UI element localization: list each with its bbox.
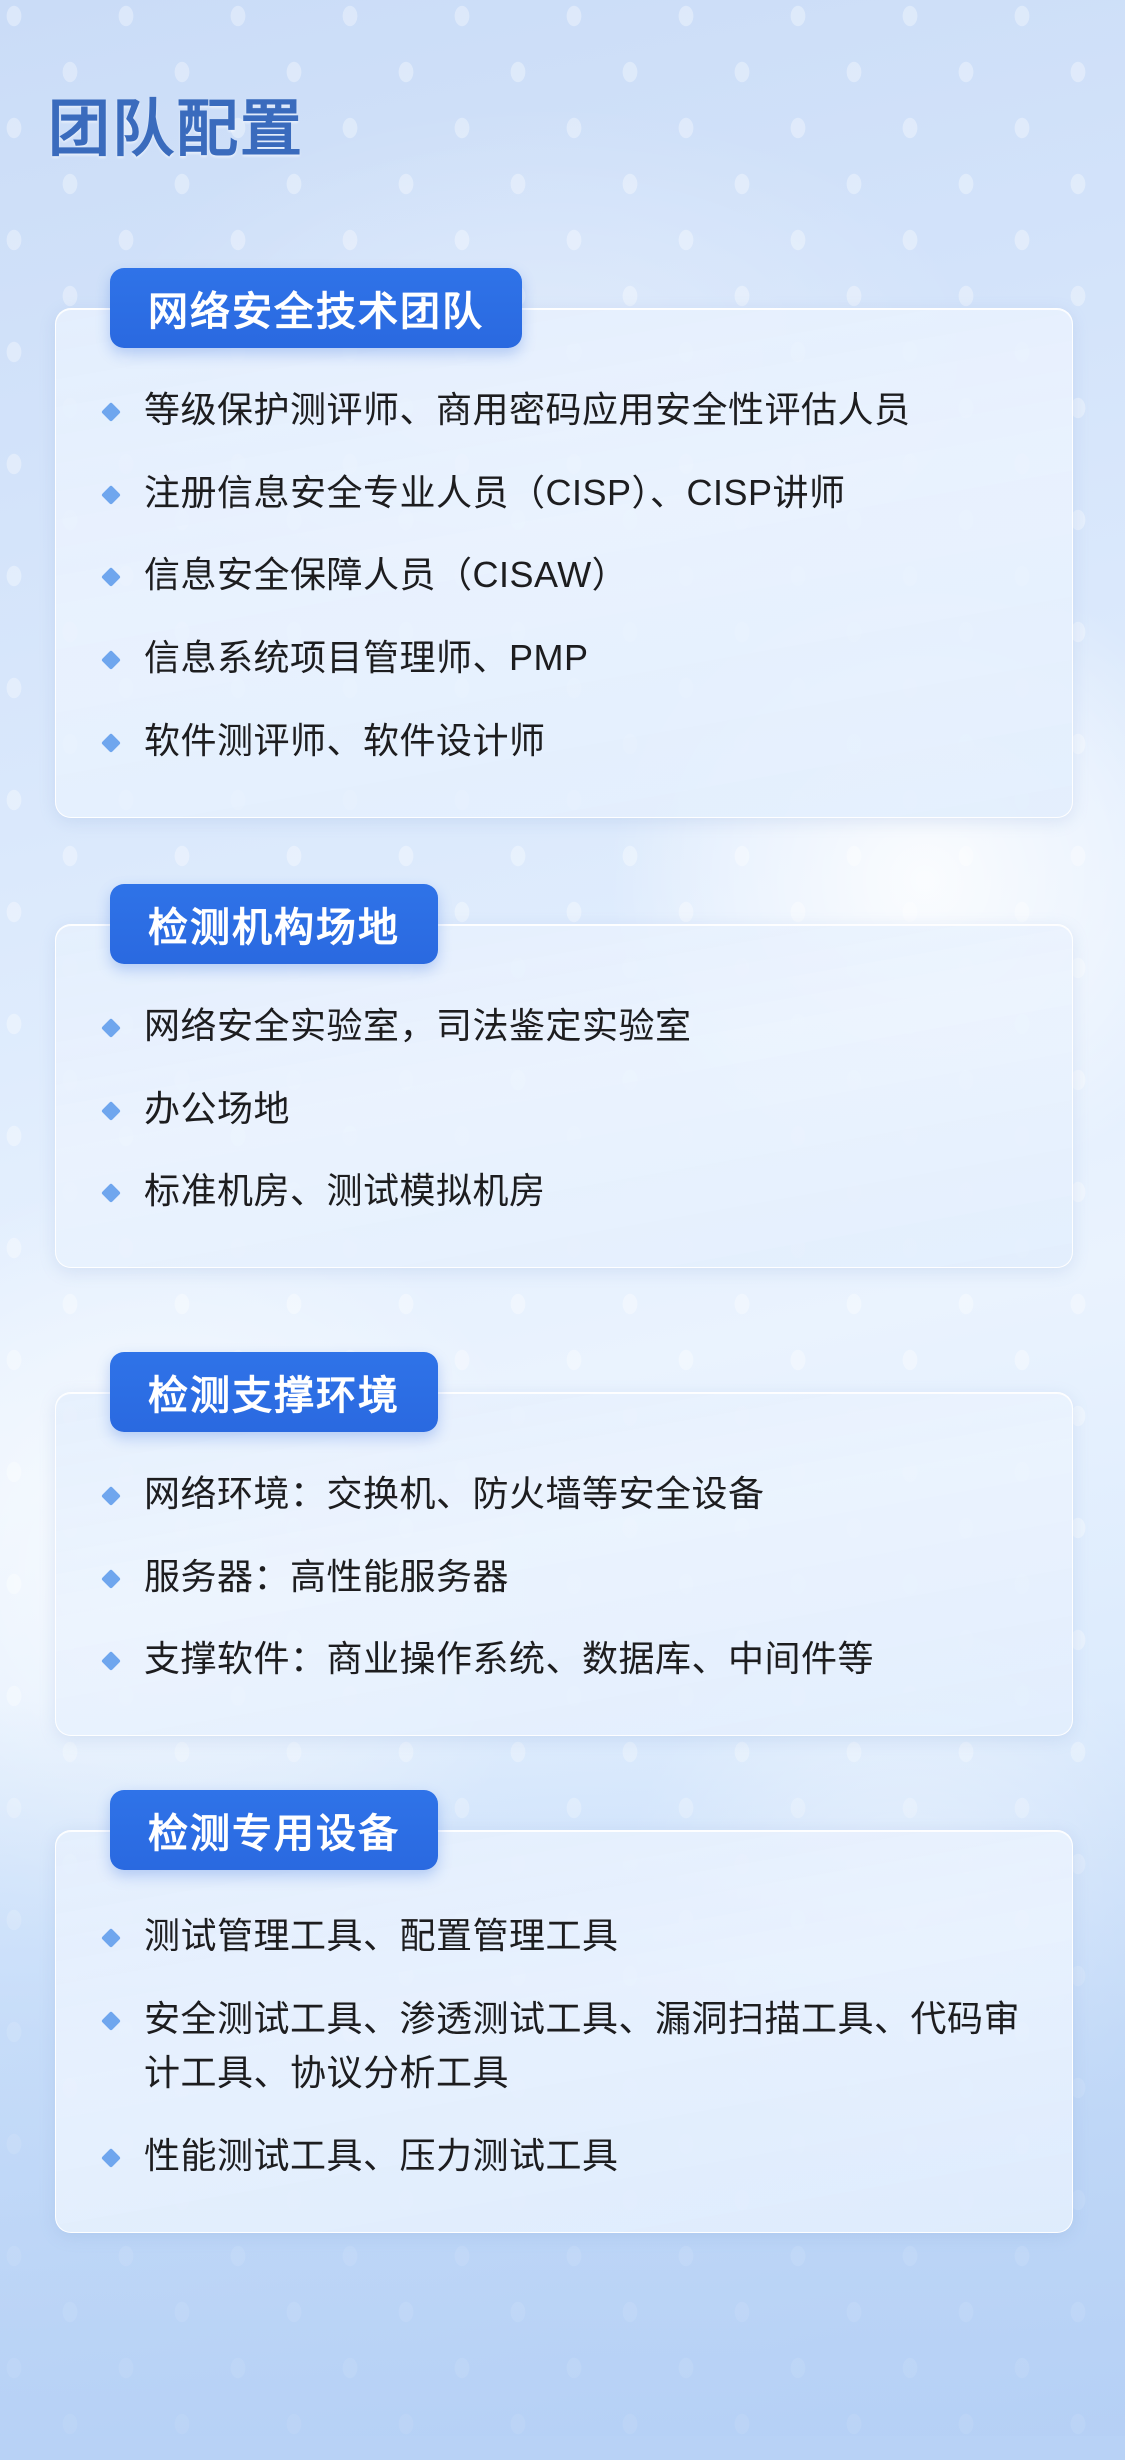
list-item: 等级保护测评师、商用密码应用安全性评估人员 bbox=[100, 383, 1028, 438]
list-item-text: 安全测试工具、渗透测试工具、漏洞扫描工具、代码审计工具、协议分析工具 bbox=[144, 1998, 1020, 2094]
list-item: 软件测评师、软件设计师 bbox=[100, 714, 1028, 769]
list-item: 测试管理工具、配置管理工具 bbox=[100, 1909, 1028, 1964]
diamond-bullet-icon bbox=[101, 650, 121, 670]
section-body-4: 测试管理工具、配置管理工具 安全测试工具、渗透测试工具、漏洞扫描工具、代码审计工… bbox=[55, 1830, 1073, 2233]
diamond-bullet-icon bbox=[101, 733, 121, 753]
list-item-text: 软件测评师、软件设计师 bbox=[144, 720, 546, 761]
list-item-text: 办公场地 bbox=[144, 1088, 290, 1129]
list-item: 注册信息安全专业人员（CISP）、CISP讲师 bbox=[100, 466, 1028, 521]
diamond-bullet-icon bbox=[101, 568, 121, 588]
diamond-bullet-icon bbox=[101, 1184, 121, 1204]
list-item-text: 标准机房、测试模拟机房 bbox=[144, 1170, 546, 1211]
list-item: 支撑软件：商业操作系统、数据库、中间件等 bbox=[100, 1632, 1028, 1687]
section-card-4: 检测专用设备 测试管理工具、配置管理工具 安全测试工具、渗透测试工具、漏洞扫描工… bbox=[55, 1790, 1073, 2233]
diamond-bullet-icon bbox=[101, 1018, 121, 1038]
diamond-bullet-icon bbox=[101, 1569, 121, 1589]
list-item: 信息安全保障人员（CISAW） bbox=[100, 548, 1028, 603]
list-item-text: 信息系统项目管理师、PMP bbox=[144, 637, 589, 678]
page-title: 团队配置 bbox=[48, 78, 304, 168]
section-body-3: 网络环境：交换机、防火墙等安全设备 服务器：高性能服务器 支撑软件：商业操作系统… bbox=[55, 1392, 1073, 1736]
section-heading-badge-3: 检测支撑环境 bbox=[110, 1352, 438, 1432]
section-heading-badge-1: 网络安全技术团队 bbox=[110, 268, 522, 348]
diamond-bullet-icon bbox=[101, 1486, 121, 1506]
bullet-list-4: 测试管理工具、配置管理工具 安全测试工具、渗透测试工具、漏洞扫描工具、代码审计工… bbox=[100, 1909, 1028, 2184]
list-item-text: 网络环境：交换机、防火墙等安全设备 bbox=[144, 1473, 765, 1514]
diamond-bullet-icon bbox=[101, 2148, 121, 2168]
list-item-text: 网络安全实验室，司法鉴定实验室 bbox=[144, 1005, 692, 1046]
diamond-bullet-icon bbox=[101, 2011, 121, 2031]
list-item-text: 信息安全保障人员（CISAW） bbox=[144, 554, 628, 595]
section-heading-badge-4: 检测专用设备 bbox=[110, 1790, 438, 1870]
list-item-text: 测试管理工具、配置管理工具 bbox=[144, 1915, 619, 1956]
section-card-3: 检测支撑环境 网络环境：交换机、防火墙等安全设备 服务器：高性能服务器 支撑软件… bbox=[55, 1352, 1073, 1736]
list-item-text: 注册信息安全专业人员（CISP）、CISP讲师 bbox=[144, 472, 846, 513]
diamond-bullet-icon bbox=[101, 402, 121, 422]
list-item: 网络安全实验室，司法鉴定实验室 bbox=[100, 999, 1028, 1054]
list-item-text: 服务器：高性能服务器 bbox=[144, 1556, 509, 1597]
diamond-bullet-icon bbox=[101, 1928, 121, 1948]
section-body-2: 网络安全实验室，司法鉴定实验室 办公场地 标准机房、测试模拟机房 bbox=[55, 924, 1073, 1268]
section-card-1: 网络安全技术团队 等级保护测评师、商用密码应用安全性评估人员 注册信息安全专业人… bbox=[55, 268, 1073, 818]
diamond-bullet-icon bbox=[101, 485, 121, 505]
list-item: 网络环境：交换机、防火墙等安全设备 bbox=[100, 1467, 1028, 1522]
section-heading-badge-2: 检测机构场地 bbox=[110, 884, 438, 964]
list-item-text: 等级保护测评师、商用密码应用安全性评估人员 bbox=[144, 389, 911, 430]
section-card-2: 检测机构场地 网络安全实验室，司法鉴定实验室 办公场地 标准机房、测试模拟机房 bbox=[55, 884, 1073, 1268]
bullet-list-2: 网络安全实验室，司法鉴定实验室 办公场地 标准机房、测试模拟机房 bbox=[100, 999, 1028, 1219]
list-item: 信息系统项目管理师、PMP bbox=[100, 631, 1028, 686]
bullet-list-3: 网络环境：交换机、防火墙等安全设备 服务器：高性能服务器 支撑软件：商业操作系统… bbox=[100, 1467, 1028, 1687]
list-item-text: 性能测试工具、压力测试工具 bbox=[144, 2135, 619, 2176]
list-item: 服务器：高性能服务器 bbox=[100, 1550, 1028, 1605]
bullet-list-1: 等级保护测评师、商用密码应用安全性评估人员 注册信息安全专业人员（CISP）、C… bbox=[100, 383, 1028, 769]
section-body-1: 等级保护测评师、商用密码应用安全性评估人员 注册信息安全专业人员（CISP）、C… bbox=[55, 308, 1073, 818]
list-item-text: 支撑软件：商业操作系统、数据库、中间件等 bbox=[144, 1638, 874, 1679]
list-item: 性能测试工具、压力测试工具 bbox=[100, 2129, 1028, 2184]
list-item: 安全测试工具、渗透测试工具、漏洞扫描工具、代码审计工具、协议分析工具 bbox=[100, 1992, 1028, 2101]
diamond-bullet-icon bbox=[101, 1652, 121, 1672]
diamond-bullet-icon bbox=[101, 1101, 121, 1121]
list-item: 办公场地 bbox=[100, 1082, 1028, 1137]
list-item: 标准机房、测试模拟机房 bbox=[100, 1164, 1028, 1219]
poster-page: 团队配置 网络安全技术团队 等级保护测评师、商用密码应用安全性评估人员 注册信息… bbox=[0, 0, 1125, 2436]
